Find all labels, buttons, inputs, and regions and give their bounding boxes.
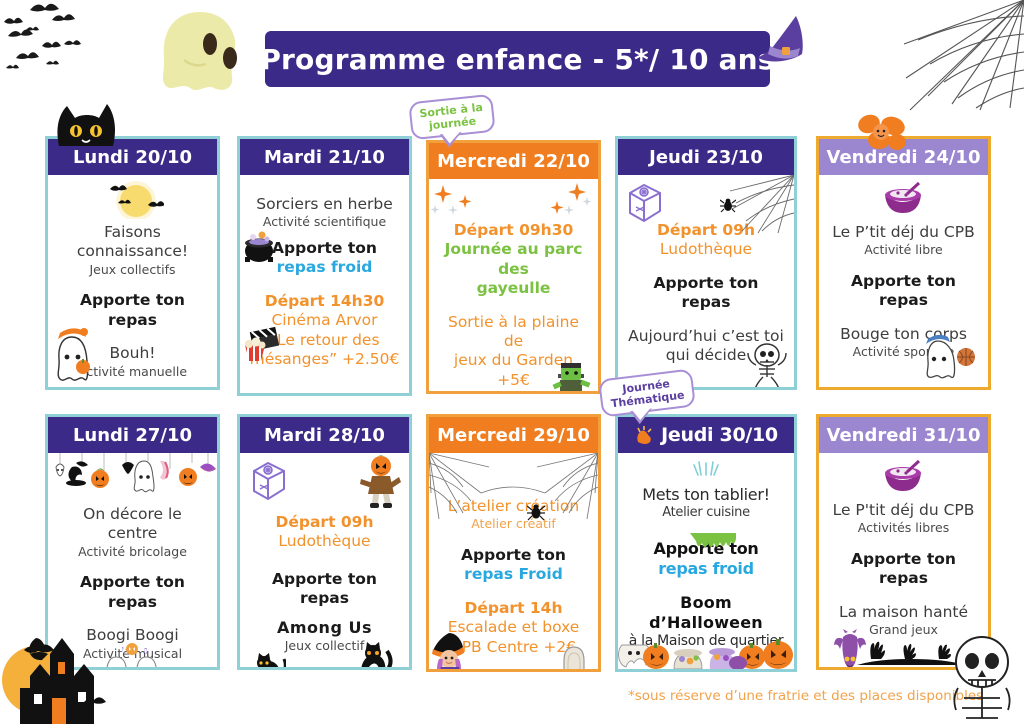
- card-line: Escalade et boxe: [438, 618, 589, 637]
- card-line: Faisons connaissance!: [57, 223, 208, 262]
- among-us-logo: Among Us: [249, 618, 400, 638]
- card-line: Apporte ton: [828, 550, 979, 569]
- day-card-vendredi-24-10[interactable]: Vendredi 24/10 Le P’tit déj du CPB Activ…: [816, 136, 991, 390]
- card-line: Apporte ton repas: [249, 570, 400, 609]
- card-line: Ludothèque: [627, 240, 785, 259]
- among-us-text: Among Us: [277, 618, 372, 637]
- card-body: Mets ton tablier! Atelier cuisine Apport…: [618, 453, 794, 669]
- day-card-jeudi-30-10[interactable]: Jeudi 30/10 Mets ton tablier! Atelier cu…: [615, 414, 797, 672]
- spider-web-corner-icon: [900, 0, 1024, 112]
- page-title: Programme enfance - 5*/ 10 ans: [265, 31, 770, 87]
- card-line: Boom d’Halloween: [627, 593, 785, 633]
- card-header: Mercredi 22/10: [429, 143, 598, 179]
- speech-bubble-sortie-journee: Sortie à la journée: [408, 94, 495, 141]
- page-title-text: Programme enfance - 5*/ 10 ans: [260, 43, 774, 76]
- day-card-mardi-28-10[interactable]: Mardi 28/10: [237, 414, 412, 670]
- card-line: repas: [627, 293, 785, 312]
- card-line: Apporte ton: [438, 546, 589, 565]
- zombie-hands-icon: [857, 635, 965, 665]
- day-card-lundi-20-10[interactable]: Lundi 20/10 Faisons connaissance! Jeux c…: [45, 136, 220, 390]
- card-line: gayeulle: [438, 279, 589, 298]
- card-line: Départ 09h: [627, 221, 785, 240]
- card-line: Activité libre: [828, 242, 979, 258]
- card-line: Le P'tit déj du CPB: [828, 501, 979, 520]
- card-line: repas: [57, 311, 208, 330]
- card-line: Mets ton tablier!: [627, 485, 785, 505]
- card-line: Apporte ton: [57, 291, 208, 310]
- footnote: *sous réserve d’une fratrie et des place…: [628, 688, 983, 704]
- card-line: Grand jeux: [828, 622, 979, 638]
- card-body: Sorciers en herbe Activité scientifique …: [240, 175, 409, 393]
- speech-bubble-journee-thematique: Journée Thématique: [598, 368, 696, 417]
- card-line: Activité manuelle: [57, 364, 208, 380]
- card-line: Départ 14h30: [249, 292, 400, 311]
- bats-cluster-icon: [2, 2, 112, 82]
- card-line: CPB Centre +2€: [438, 638, 589, 657]
- card-line: La maison hanté: [828, 603, 979, 622]
- clap-hands-icon: [634, 426, 656, 444]
- card-body: Départ 09h30 Journée au parc des gayeull…: [429, 179, 598, 391]
- ghost-icon: [154, 10, 246, 94]
- card-line: Ludothèque: [249, 532, 400, 551]
- card-line: Boogi Boogi: [57, 626, 208, 645]
- card-line: Atelier créatif: [438, 516, 589, 532]
- card-line: Sortie à la plaine de: [438, 313, 589, 352]
- card-line: Jeux collectif: [249, 638, 400, 654]
- card-line: Bouh!: [57, 344, 208, 363]
- day-card-lundi-27-10[interactable]: Lundi 27/10: [45, 414, 220, 670]
- card-line: Départ 14h: [438, 599, 589, 618]
- card-header: Lundi 27/10: [48, 417, 217, 453]
- card-body: L’atelier création Atelier créatif Appor…: [429, 453, 598, 669]
- card-line: Départ 09h30: [438, 221, 589, 240]
- card-body: Le P’tit déj du CPB Activité libre Appor…: [819, 175, 988, 387]
- card-line: repas froid: [627, 559, 785, 579]
- card-line: Activité bricolage: [57, 544, 208, 560]
- day-card-mardi-21-10[interactable]: Mardi 21/10 Sorciers en herbe Activité s…: [237, 136, 412, 396]
- card-line: repas froid: [249, 258, 400, 277]
- card-line: Apporte ton: [627, 539, 785, 559]
- card-line: Sorciers en herbe: [249, 195, 400, 214]
- card-line: Jeux collectifs: [57, 262, 208, 278]
- card-line: repas: [57, 593, 208, 612]
- card-line: Le P’tit déj du CPB: [828, 223, 979, 242]
- card-line: Apporte ton: [627, 274, 785, 293]
- card-header: Mardi 21/10: [240, 139, 409, 175]
- card-header: Vendredi 31/10: [819, 417, 988, 453]
- card-line: Activité sportive: [828, 344, 979, 360]
- card-body: Le P'tit déj du CPB Activités libres App…: [819, 453, 988, 667]
- card-header: Mardi 28/10: [240, 417, 409, 453]
- card-line: Bouge ton corps: [828, 325, 979, 344]
- card-body: Départ 09h Ludothèque Apporte ton repas …: [618, 175, 794, 387]
- card-line: L’atelier création: [438, 497, 589, 516]
- card-line: Apporte ton: [57, 573, 208, 592]
- card-line: Cinéma Arvor: [249, 311, 400, 330]
- card-line: repas Froid: [438, 565, 589, 584]
- card-header: Mercredi 29/10: [429, 417, 598, 453]
- card-line: repas: [828, 291, 979, 310]
- card-header: Jeudi 23/10: [618, 139, 794, 175]
- card-header: Vendredi 24/10: [819, 139, 988, 175]
- card-header: Lundi 20/10: [48, 139, 217, 175]
- card-line: qui décide: [627, 346, 785, 365]
- card-line: Apporte ton: [828, 272, 979, 291]
- card-line: Aujourd’hui c’est toi: [627, 327, 785, 346]
- card-body: Départ 09h Ludothèque Apporte ton repas …: [240, 453, 409, 667]
- day-card-vendredi-31-10[interactable]: Vendredi 31/10 Le P'tit déj du CPB Activ…: [816, 414, 991, 670]
- card-line: “Le retour des: [249, 331, 400, 350]
- card-line: Activité musical: [57, 646, 208, 662]
- card-line: repas: [828, 569, 979, 588]
- card-line: Journée au parc des: [438, 240, 589, 279]
- card-line: On décore le centre: [57, 505, 208, 544]
- day-card-jeudi-23-10[interactable]: Jeudi 23/10 Départ 09h: [615, 136, 797, 390]
- card-line: Activités libres: [828, 520, 979, 536]
- card-body: Faisons connaissance! Jeux collectifs Ap…: [48, 175, 217, 387]
- day-card-mercredi-29-10[interactable]: Mercredi 29/10 L’atelier création Atelie…: [426, 414, 601, 672]
- card-line: Apporte ton: [249, 239, 400, 258]
- card-line: Départ 09h: [249, 513, 400, 532]
- card-body: On décore le centre Activité bricolage A…: [48, 453, 217, 667]
- card-line: jeux du Garden +5€: [438, 351, 589, 390]
- card-line: mésanges” +2.50€: [249, 350, 400, 369]
- card-line: Atelier cuisine: [627, 505, 785, 521]
- day-card-mercredi-22-10[interactable]: Mercredi 22/10 Départ 09h30 Journée: [426, 140, 601, 394]
- card-line: à la Maison de quartier: [627, 633, 785, 651]
- card-line: Activité scientifique: [249, 214, 400, 230]
